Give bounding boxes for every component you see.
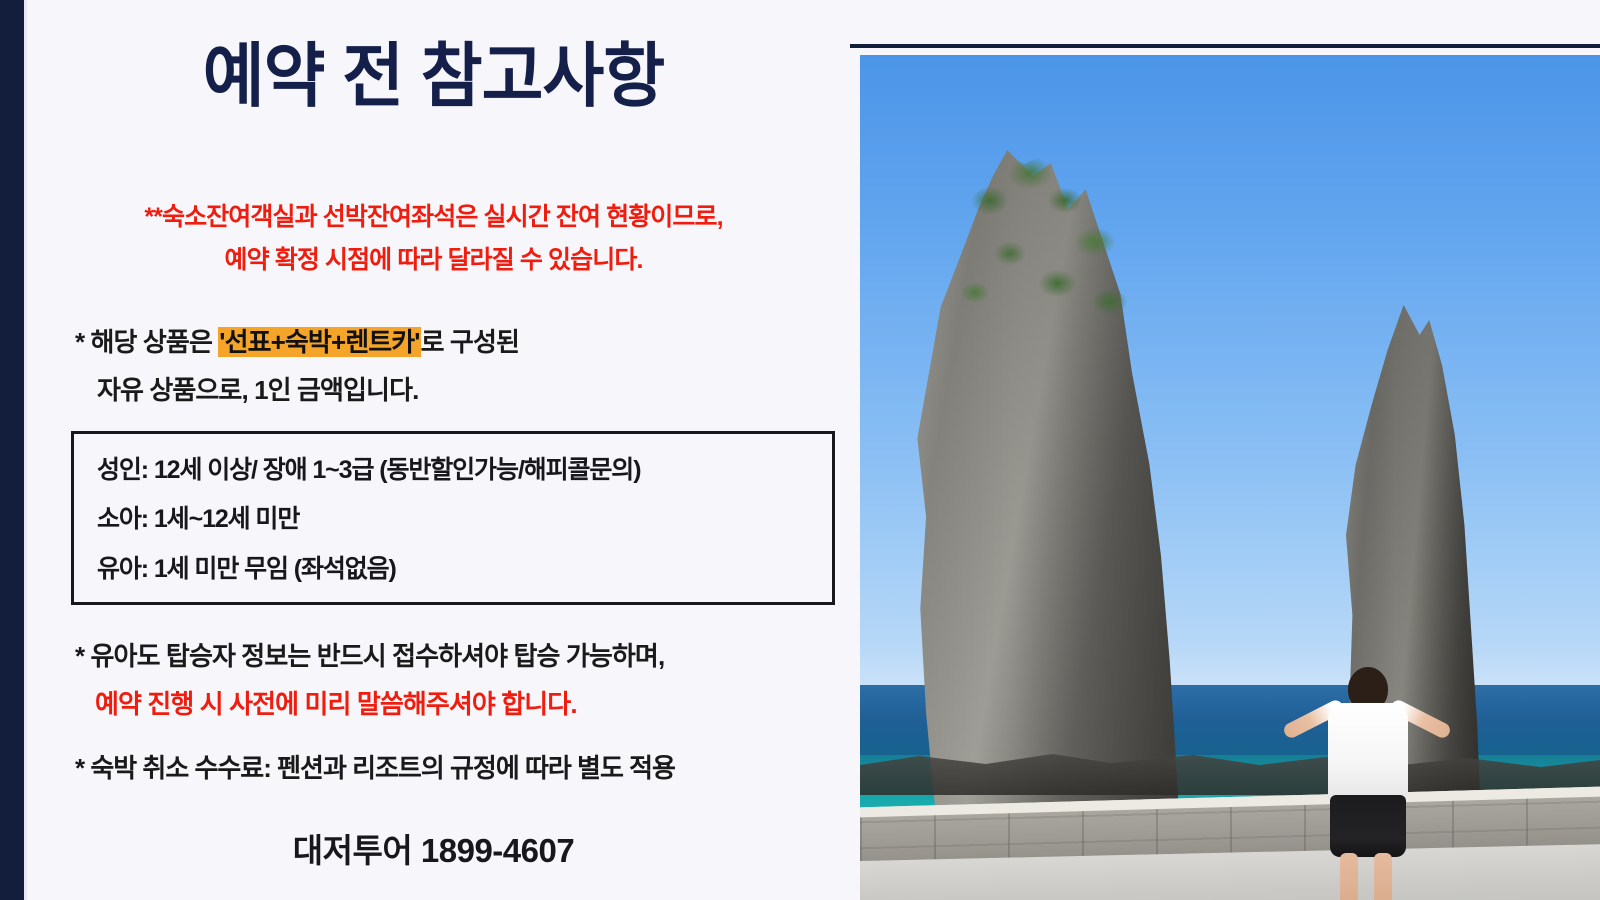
age-policy-list: 성인: 12세 이상/ 장애 1~3급 (동반할인가능/해피콜문의) 소아: 1… — [97, 446, 824, 594]
warning-line-2: 예약 확정 시점에 따라 달라질 수 있습니다. — [27, 239, 840, 282]
left-accent-bar — [0, 0, 24, 900]
photo-top-rule — [850, 44, 1600, 48]
photo-person — [1270, 667, 1460, 900]
product-composition-note: * 해당 상품은 '선표+숙박+렌트카'로 구성된 자유 상품으로, 1인 금액… — [75, 318, 835, 414]
infant-note-line-2: 예약 진행 시 사전에 미리 말씀해주셔야 합니다. — [75, 681, 845, 729]
infant-note-line-1: * 유아도 탑승자 정보는 반드시 접수하셔야 탑승 가능하며, — [75, 633, 845, 681]
photo-person-left-leg — [1340, 853, 1358, 900]
text-panel: 예약 전 참고사항 **숙소잔여객실과 선박잔여좌석은 실시간 잔여 현황이므로… — [27, 0, 840, 900]
photo-person-shorts — [1330, 795, 1406, 857]
product-line-2: 자유 상품으로, 1인 금액입니다. — [75, 366, 835, 414]
realtime-availability-warning: **숙소잔여객실과 선박잔여좌석은 실시간 잔여 현황이므로, 예약 확정 시점… — [27, 196, 840, 282]
age-row-child: 소아: 1세~12세 미만 — [97, 495, 824, 544]
product-prefix: * 해당 상품은 — [75, 327, 218, 357]
scenery-photo — [860, 55, 1600, 900]
warning-line-1: **숙소잔여객실과 선박잔여좌석은 실시간 잔여 현황이므로, — [27, 196, 840, 239]
company-contact-footer: 대저투어 1899-4607 — [27, 824, 840, 872]
page-title: 예약 전 참고사항 — [43, 40, 823, 114]
photo-person-shirt — [1328, 703, 1408, 801]
product-highlight: '선표+숙박+렌트카' — [218, 327, 420, 357]
age-row-adult: 성인: 12세 이상/ 장애 1~3급 (동반할인가능/해피콜문의) — [97, 446, 824, 495]
product-line-1: * 해당 상품은 '선표+숙박+렌트카'로 구성된 — [75, 318, 835, 366]
age-row-infant: 유아: 1세 미만 무임 (좌석없음) — [97, 545, 824, 594]
infant-boarding-note: * 유아도 탑승자 정보는 반드시 접수하셔야 탑승 가능하며, 예약 진행 시… — [75, 633, 845, 729]
poster-root: 예약 전 참고사항 **숙소잔여객실과 선박잔여좌석은 실시간 잔여 현황이므로… — [0, 0, 1600, 900]
product-suffix: 로 구성된 — [421, 327, 519, 357]
photo-person-right-leg — [1374, 853, 1392, 900]
age-policy-box: 성인: 12세 이상/ 장애 1~3급 (동반할인가능/해피콜문의) 소아: 1… — [71, 431, 835, 605]
cancellation-fee-note: * 숙박 취소 수수료: 펜션과 리조트의 규정에 따라 별도 적용 — [75, 748, 845, 785]
